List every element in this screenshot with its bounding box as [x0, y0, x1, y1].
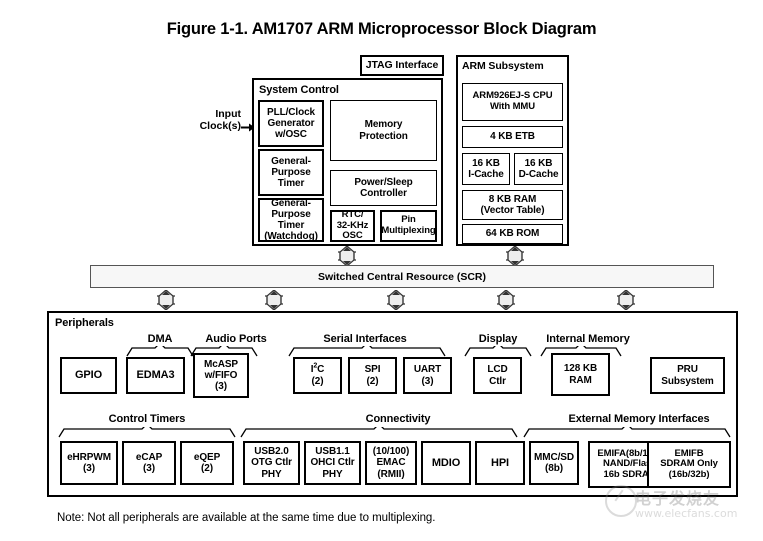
gpio-block: GPIO [60, 357, 117, 394]
general-purpose-timer-block: General- Purpose Timer [258, 149, 324, 196]
ecap-block: eCAP (3) [122, 441, 176, 485]
uart-block: UART (3) [403, 357, 452, 394]
caption-display: Display [468, 333, 528, 345]
caption-internal-memory: Internal Memory [534, 333, 642, 345]
input-clock-line1: Input [185, 108, 241, 120]
gpt-line2: Purpose [271, 167, 310, 178]
bracket-control-timers [58, 427, 236, 438]
emifb-line1: EMIFB [674, 448, 703, 459]
bracket-dma [126, 346, 194, 357]
vecram-line1: 8 KB RAM [489, 194, 537, 205]
eqep-line1: eQEP [194, 452, 220, 463]
cpu-line1: ARM926EJ-S CPU [473, 90, 553, 101]
i2c-superscript: 2 [313, 363, 317, 370]
pru-line2: Subsystem [661, 376, 713, 387]
usb20-line2: OTG Ctlr [251, 457, 292, 468]
connector-scr-to-peripherals-4 [495, 290, 517, 310]
ram-line1: 128 KB [564, 363, 597, 374]
mcasp-line2: w/FIFO [205, 370, 238, 381]
spi-block: SPI (2) [348, 357, 397, 394]
connector-scr-to-peripherals-3 [385, 290, 407, 310]
icache-line2: I-Cache [468, 169, 503, 180]
connector-scr-to-peripherals-5 [615, 290, 637, 310]
internal-ram-block: 128 KB RAM [551, 353, 610, 396]
figure-note: Note: Not all peripherals are available … [57, 512, 435, 524]
uart-line1: UART [414, 364, 441, 375]
lcd-ctlr-block: LCD Ctlr [473, 357, 522, 394]
rom-block: 64 KB ROM [462, 224, 563, 244]
caption-serial-interfaces: Serial Interfaces [300, 333, 430, 345]
system-control-title: System Control [259, 84, 339, 96]
usb11-line3: PHY [322, 469, 342, 480]
input-clock-line2: Clock(s) [185, 120, 241, 132]
mcasp-line3: (3) [215, 381, 227, 392]
eqep-line2: (2) [201, 463, 213, 474]
dcache-line1: 16 KB [525, 158, 553, 169]
ecap-line2: (3) [143, 463, 155, 474]
ehrpwm-block: eHRPWM (3) [60, 441, 118, 485]
gpt-line1: General- [271, 156, 311, 167]
usb20-line3: PHY [261, 469, 281, 480]
vecram-line2: (Vector Table) [481, 205, 545, 216]
i2c-label: I2C(2) [311, 364, 325, 386]
mcasp-w-fifo-block: McASP w/FIFO (3) [193, 353, 249, 398]
caption-dma: DMA [134, 333, 186, 345]
ram-line2: RAM [569, 375, 591, 386]
dcache-line2: D-Cache [519, 169, 559, 180]
psc-line1: Power/Sleep [354, 177, 412, 188]
connector-arm-subsystem-to-scr [504, 246, 526, 266]
switched-central-resource-bar: Switched Central Resource (SCR) [90, 265, 714, 288]
wdt-line4: (Watchdog) [264, 231, 318, 242]
rtc-line2: 32-KHz [337, 220, 369, 231]
bracket-external-memory-interfaces [523, 427, 731, 438]
peripherals-title: Peripherals [55, 317, 114, 329]
watermark-url: www.elecfans.com [635, 507, 737, 520]
memprot-line1: Memory [365, 119, 403, 130]
psc-line2: Controller [360, 188, 407, 199]
wdt-line2: Purpose [271, 209, 310, 220]
emac-line3: (RMII) [377, 469, 404, 480]
ehrpwm-line2: (3) [83, 463, 95, 474]
bracket-connectivity [240, 427, 518, 438]
i-cache-block: 16 KB I-Cache [462, 153, 510, 185]
caption-audio-ports: Audio Ports [196, 333, 276, 345]
emac-line2: EMAC [376, 457, 405, 468]
wdt-line1: General- [271, 198, 311, 209]
edma3-block: EDMA3 [126, 357, 185, 394]
gpt-line3: Timer [278, 178, 305, 189]
emac-rmii-block: (10/100) EMAC (RMII) [365, 441, 417, 485]
pinmux-line1: Pin [401, 214, 415, 225]
power-sleep-controller-block: Power/Sleep Controller [330, 170, 437, 206]
arm-subsystem-title: ARM Subsystem [462, 60, 544, 72]
lcd-line2: Ctlr [489, 376, 506, 387]
mmcsd-line2: (8b) [545, 463, 563, 474]
etb-block: 4 KB ETB [462, 126, 563, 148]
rtc-line3: OSC [342, 230, 362, 241]
rtc-32khz-osc-block: RTC/ 32-KHz OSC [330, 210, 375, 242]
pin-multiplexing-block: Pin Multiplexing [380, 210, 437, 242]
pru-line1: PRU [677, 364, 698, 375]
caption-external-memory-interfaces: External Memory Interfaces [539, 413, 739, 425]
ram-vector-table-block: 8 KB RAM (Vector Table) [462, 190, 563, 220]
pll-line3: w/OSC [275, 129, 307, 140]
pru-subsystem-block: PRU Subsystem [650, 357, 725, 394]
pinmux-line2: Multiplexing [381, 225, 435, 236]
i2c-block: I2C(2) [293, 357, 342, 394]
ecap-line1: eCAP [136, 452, 162, 463]
usb11-ohci-ctlr-phy-block: USB1.1 OHCI Ctlr PHY [304, 441, 361, 485]
lcd-line1: LCD [487, 364, 507, 375]
icache-line1: 16 KB [472, 158, 500, 169]
mmc-sd-block: MMC/SD (8b) [529, 441, 579, 485]
emifb-block: EMIFB SDRAM Only (16b/32b) [647, 441, 731, 488]
hpi-block: HPI [475, 441, 525, 485]
d-cache-block: 16 KB D-Cache [514, 153, 563, 185]
mcasp-line1: McASP [204, 359, 238, 370]
emifb-line3: (16b/32b) [669, 469, 710, 480]
block-diagram-canvas: Figure 1-1. AM1707 ARM Microprocessor Bl… [0, 0, 763, 541]
usb11-line1: USB1.1 [315, 446, 349, 457]
arm926ejs-cpu-block: ARM926EJ-S CPU With MMU [462, 83, 563, 121]
emifb-line2: SDRAM Only [660, 458, 718, 469]
spi-line1: SPI [365, 364, 381, 375]
emac-line1: (10/100) [373, 446, 409, 457]
connector-scr-to-peripherals-2 [263, 290, 285, 310]
pll-line1: PLL/Clock [267, 107, 315, 118]
caption-control-timers: Control Timers [82, 413, 212, 425]
jtag-interface-block: JTAG Interface [360, 55, 444, 76]
cpu-line2: With MMU [490, 101, 535, 112]
caption-connectivity: Connectivity [313, 413, 483, 425]
bracket-display [464, 346, 532, 357]
bracket-serial-interfaces [288, 346, 446, 357]
figure-title: Figure 1-1. AM1707 ARM Microprocessor Bl… [0, 20, 763, 39]
usb11-line2: OHCI Ctlr [310, 457, 354, 468]
spi-line2: (2) [367, 376, 379, 387]
rtc-line1: RTC/ [342, 209, 364, 220]
pll-clock-generator-block: PLL/Clock Generator w/OSC [258, 100, 324, 147]
usb20-otg-ctlr-phy-block: USB2.0 OTG Ctlr PHY [243, 441, 300, 485]
uart-line2: (3) [422, 376, 434, 387]
ehrpwm-line1: eHRPWM [67, 452, 111, 463]
pll-line2: Generator [268, 118, 315, 129]
mmcsd-line1: MMC/SD [534, 452, 574, 463]
connector-scr-to-peripherals-1 [155, 290, 177, 310]
usb20-line1: USB2.0 [254, 446, 288, 457]
connector-system-control-to-scr [336, 246, 358, 266]
mdio-block: MDIO [421, 441, 471, 485]
memory-protection-block: Memory Protection [330, 100, 437, 161]
general-purpose-timer-watchdog-block: General- Purpose Timer (Watchdog) [258, 198, 324, 242]
input-clock-label: Input Clock(s) [185, 108, 241, 133]
wdt-line3: Timer [278, 220, 305, 231]
eqep-block: eQEP (2) [180, 441, 234, 485]
memprot-line2: Protection [359, 131, 407, 142]
